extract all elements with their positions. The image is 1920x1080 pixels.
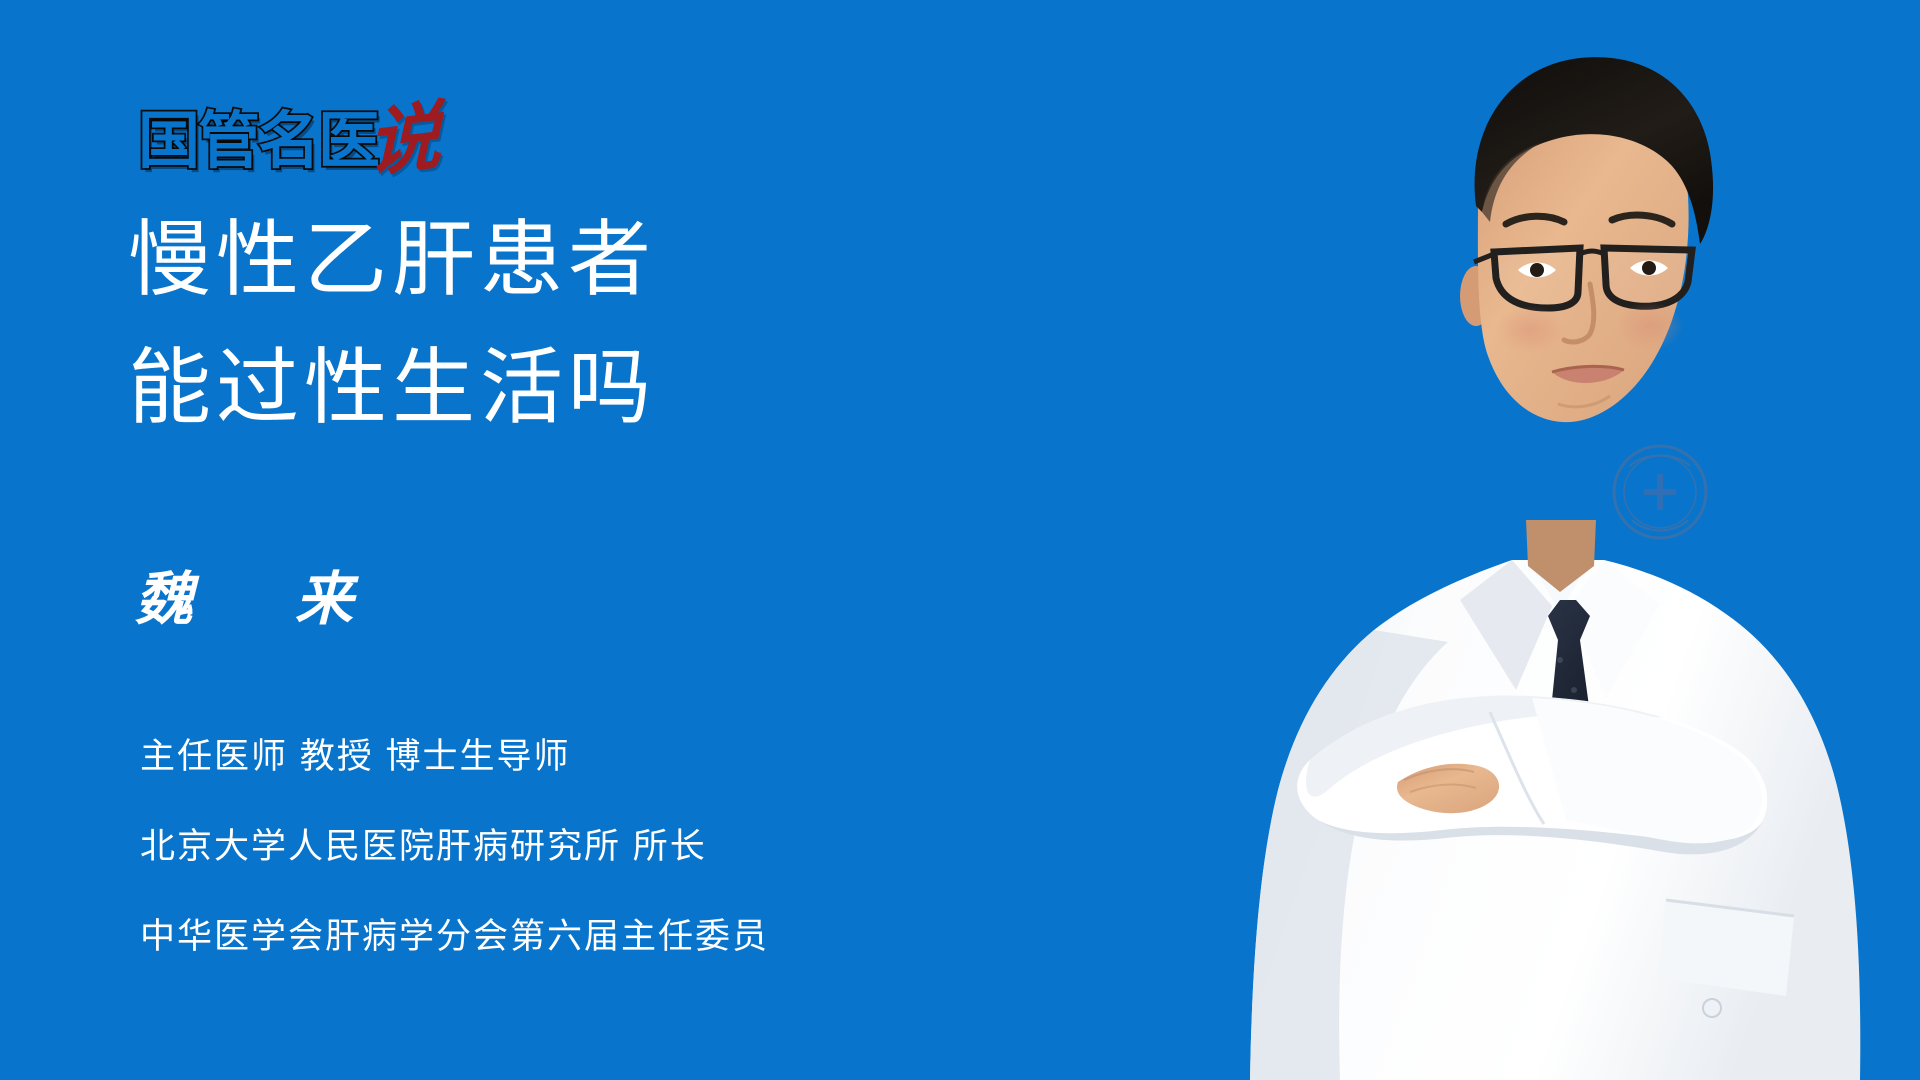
credential-line-2: 北京大学人民医院肝病研究所 所长 (140, 802, 1140, 892)
headline-line-2: 能过性生活吗 (128, 324, 1028, 452)
presenter-credentials: 主任医师 教授 博士生导师 北京大学人民医院肝病研究所 所长 中华医学会肝病学分… (140, 712, 1140, 982)
promo-banner: 国管名医 说 慢性乙肝患者 能过性生活吗 魏 来 主任医师 教授 博士生导师 北… (0, 0, 1920, 1080)
headline-line-1: 慢性乙肝患者 (128, 196, 1028, 324)
credential-line-1: 主任医师 教授 博士生导师 (140, 712, 1140, 802)
brand-logo-main-text: 国管名医 (138, 111, 378, 173)
brand-logo-accent-text: 说 (367, 102, 442, 179)
brand-logo: 国管名医 说 (138, 95, 442, 173)
headline: 慢性乙肝患者 能过性生活吗 (128, 196, 1028, 452)
presenter-name: 魏 来 (135, 562, 375, 636)
credential-line-3: 中华医学会肝病学分会第六届主任委员 (140, 892, 1140, 982)
